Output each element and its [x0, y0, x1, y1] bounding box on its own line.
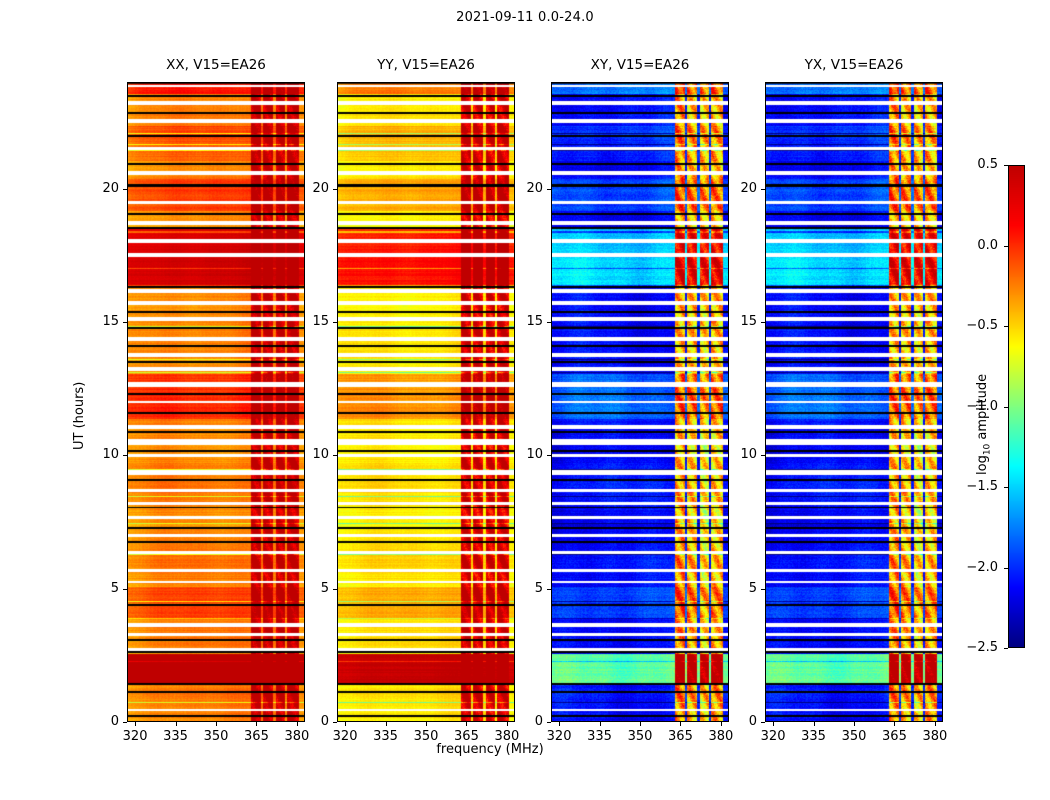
ytick-xx-1: [123, 589, 127, 590]
ytick-xx-4: [123, 189, 127, 190]
colorbar-tick-label-1: 0.0: [958, 238, 998, 253]
ytick-label-xx-2: 10: [85, 447, 119, 462]
colorbar-tick-2: [1004, 326, 1008, 327]
xtick-yy-1: [386, 722, 387, 726]
xtick-yy-4: [507, 722, 508, 726]
ytick-xx-3: [123, 322, 127, 323]
waterfall-panel-yy: YY, V15=EA26: [337, 82, 515, 722]
ytick-xy-1: [547, 589, 551, 590]
xtick-xy-4: [721, 722, 722, 726]
colorbar-label: log10 amplitude: [975, 374, 993, 475]
colorbar-tick-6: [1004, 648, 1008, 649]
ytick-yy-3: [333, 322, 337, 323]
colorbar-tick-4: [1004, 487, 1008, 488]
xtick-xy-0: [559, 722, 560, 726]
panel-title-xy: XY, V15=EA26: [551, 57, 729, 73]
waterfall-image-xx: [127, 82, 305, 722]
xtick-yx-3: [894, 722, 895, 726]
colorbar: [1008, 165, 1025, 648]
panel-title-xx: XX, V15=EA26: [127, 57, 305, 73]
colorbar-tick-5: [1004, 568, 1008, 569]
xtick-yx-1: [814, 722, 815, 726]
ytick-yx-2: [761, 455, 765, 456]
ytick-xx-0: [123, 722, 127, 723]
ytick-label-xx-1: 5: [85, 581, 119, 596]
colorbar-tick-label-4: −1.5: [958, 479, 998, 494]
xtick-label-yx-2: 350: [832, 729, 876, 744]
ytick-yx-4: [761, 189, 765, 190]
xtick-yy-2: [426, 722, 427, 726]
ytick-yy-0: [333, 722, 337, 723]
ytick-yx-0: [761, 722, 765, 723]
xtick-xx-1: [176, 722, 177, 726]
ytick-label-yy-3: 15: [295, 314, 329, 329]
xtick-xy-2: [640, 722, 641, 726]
xtick-xy-3: [680, 722, 681, 726]
xtick-yx-2: [854, 722, 855, 726]
ytick-label-yx-3: 15: [723, 314, 757, 329]
xtick-yx-4: [935, 722, 936, 726]
xtick-label-xx-0: 320: [113, 729, 157, 744]
x-axis-label: frequency (MHz): [380, 742, 600, 757]
ytick-xy-2: [547, 455, 551, 456]
xtick-xy-1: [600, 722, 601, 726]
ytick-label-yx-0: 0: [723, 714, 757, 729]
panel-title-yx: YX, V15=EA26: [765, 57, 943, 73]
colorbar-tick-label-6: −2.5: [958, 640, 998, 655]
ytick-label-yy-2: 10: [295, 447, 329, 462]
colorbar-label-subscript: 10: [983, 444, 993, 455]
colorbar-frame: [1008, 165, 1025, 648]
panel-title-yy: YY, V15=EA26: [337, 57, 515, 73]
ytick-xx-2: [123, 455, 127, 456]
ytick-yy-1: [333, 589, 337, 590]
waterfall-image-yx: [765, 82, 943, 722]
colorbar-tick-label-0: 0.5: [958, 157, 998, 172]
ytick-label-xx-0: 0: [85, 714, 119, 729]
waterfall-panel-xy: XY, V15=EA26: [551, 82, 729, 722]
colorbar-tick-1: [1004, 246, 1008, 247]
figure-canvas: 2021-09-11 0.0-24.0 XX, V15=EA2632033535…: [0, 0, 1050, 800]
xtick-label-xy-4: 380: [699, 729, 743, 744]
colorbar-tick-3: [1004, 407, 1008, 408]
xtick-xx-3: [256, 722, 257, 726]
xtick-label-xy-3: 365: [658, 729, 702, 744]
ytick-label-xy-1: 5: [509, 581, 543, 596]
xtick-label-yx-0: 320: [751, 729, 795, 744]
xtick-yy-0: [345, 722, 346, 726]
ytick-label-xy-0: 0: [509, 714, 543, 729]
ytick-label-yy-4: 20: [295, 181, 329, 196]
xtick-label-xx-2: 350: [194, 729, 238, 744]
colorbar-tick-label-2: −0.5: [958, 318, 998, 333]
ytick-label-xy-2: 10: [509, 447, 543, 462]
ytick-xy-3: [547, 322, 551, 323]
waterfall-panel-xx: XX, V15=EA26: [127, 82, 305, 722]
xtick-yy-3: [466, 722, 467, 726]
colorbar-tick-0: [1004, 165, 1008, 166]
xtick-label-yx-4: 380: [913, 729, 957, 744]
ytick-label-xy-4: 20: [509, 181, 543, 196]
xtick-label-yx-3: 365: [872, 729, 916, 744]
xtick-yx-0: [773, 722, 774, 726]
xtick-label-yy-0: 320: [323, 729, 367, 744]
xtick-xx-0: [135, 722, 136, 726]
ytick-label-yy-0: 0: [295, 714, 329, 729]
colorbar-label-tail: amplitude: [975, 374, 990, 444]
ytick-label-yy-1: 5: [295, 581, 329, 596]
xtick-label-xx-4: 380: [275, 729, 319, 744]
ytick-yy-2: [333, 455, 337, 456]
xtick-label-yx-1: 335: [792, 729, 836, 744]
xtick-xx-2: [216, 722, 217, 726]
figure-title: 2021-09-11 0.0-24.0: [0, 10, 1050, 25]
waterfall-image-xy: [551, 82, 729, 722]
ytick-xy-4: [547, 189, 551, 190]
ytick-label-xy-3: 15: [509, 314, 543, 329]
waterfall-panel-yx: YX, V15=EA26: [765, 82, 943, 722]
waterfall-image-yy: [337, 82, 515, 722]
ytick-label-yx-1: 5: [723, 581, 757, 596]
colorbar-label-main: log: [975, 455, 990, 475]
ytick-yx-1: [761, 589, 765, 590]
ytick-label-yx-2: 10: [723, 447, 757, 462]
ytick-xy-0: [547, 722, 551, 723]
colorbar-tick-label-5: −2.0: [958, 560, 998, 575]
ytick-yx-3: [761, 322, 765, 323]
y-axis-label: UT (hours): [72, 382, 87, 450]
ytick-yy-4: [333, 189, 337, 190]
xtick-label-xx-1: 335: [154, 729, 198, 744]
ytick-label-yx-4: 20: [723, 181, 757, 196]
ytick-label-xx-3: 15: [85, 314, 119, 329]
xtick-label-xy-2: 350: [618, 729, 662, 744]
ytick-label-xx-4: 20: [85, 181, 119, 196]
xtick-label-xx-3: 365: [234, 729, 278, 744]
